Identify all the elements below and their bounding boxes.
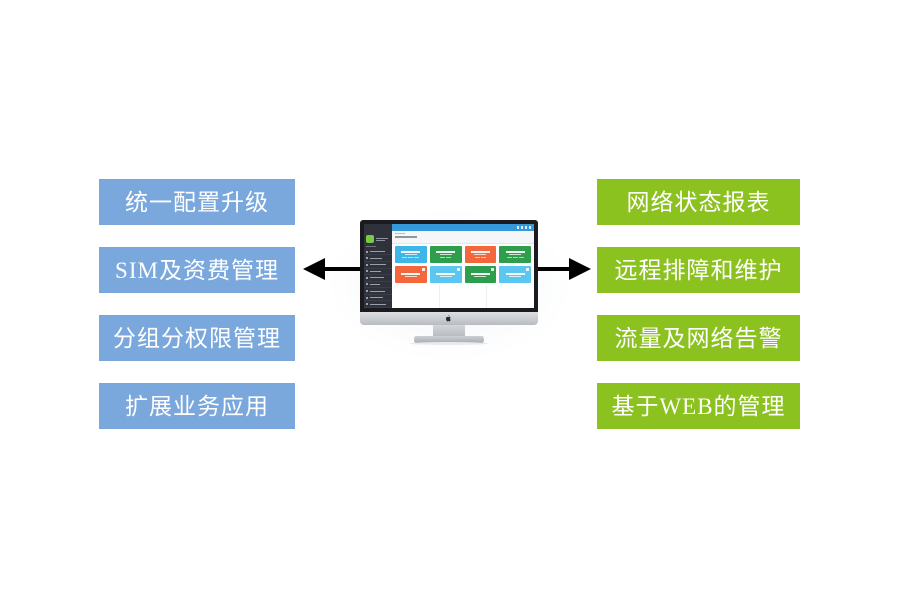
monitor-chin (360, 312, 538, 325)
app-main-content (392, 231, 534, 308)
left-feature-label-2: SIM及资费管理 (115, 259, 279, 282)
breadcrumb (392, 231, 534, 244)
bolt-icon (491, 268, 494, 271)
left-feature-item-4[interactable]: 扩展业务应用 (99, 383, 295, 429)
dashboard-tile-1[interactable] (395, 246, 427, 263)
dashboard-tile-5[interactable] (395, 266, 427, 283)
sidebar-item-8[interactable] (364, 295, 392, 302)
right-feature-label-3: 流量及网络告警 (615, 327, 783, 350)
sidebar-item-3[interactable] (364, 262, 392, 269)
right-feature-item-2[interactable]: 远程排障和维护 (597, 247, 800, 293)
dashboard-tile-3[interactable] (465, 246, 497, 263)
left-feature-label-4: 扩展业务应用 (125, 395, 269, 418)
imac-monitor (360, 220, 538, 348)
sidebar-item-5[interactable] (364, 275, 392, 282)
topbar-icon-4[interactable] (529, 226, 531, 229)
right-feature-label-4: 基于WEB的管理 (611, 395, 785, 418)
app-topbar (364, 224, 534, 231)
left-feature-label-1: 统一配置升级 (125, 191, 269, 214)
monitor-neck (433, 325, 465, 336)
pane-2 (440, 285, 488, 308)
signal-icon (526, 268, 529, 271)
topbar-icon-3[interactable] (525, 226, 527, 229)
left-feature-item-3[interactable]: 分组分权限管理 (99, 315, 295, 361)
sidebar-user-block[interactable] (364, 233, 392, 245)
right-feature-item-1[interactable]: 网络状态报表 (597, 179, 800, 225)
dashboard-tile-6[interactable] (430, 266, 462, 283)
dashboard-tile-2[interactable] (430, 246, 462, 263)
dashboard-tile-7[interactable] (465, 266, 497, 283)
right-feature-label-2: 远程排障和维护 (615, 259, 783, 282)
apple-logo-icon (446, 315, 453, 323)
sidebar-item-9[interactable] (364, 301, 392, 308)
dashboard-tile-8[interactable] (499, 266, 531, 283)
sidebar-user-text (376, 238, 388, 241)
left-feature-label-3: 分组分权限管理 (113, 327, 281, 350)
app-body (364, 231, 534, 308)
topbar-icon-2[interactable] (521, 226, 523, 229)
dashboard-tile-grid (392, 244, 534, 285)
left-feature-item-2[interactable]: SIM及资费管理 (99, 247, 295, 293)
right-feature-item-4[interactable]: 基于WEB的管理 (597, 383, 800, 429)
diagram-canvas: 统一配置升级 SIM及资费管理 分组分权限管理 扩展业务应用 网络状态报表 远程… (0, 0, 900, 600)
left-feature-item-1[interactable]: 统一配置升级 (99, 179, 295, 225)
pane-3 (487, 285, 534, 308)
topbar-icons[interactable] (517, 226, 531, 229)
topbar-icon-1[interactable] (517, 226, 519, 229)
monitor-screen[interactable] (364, 224, 534, 308)
arrow-right-icon (531, 249, 591, 289)
chart-icon (422, 268, 425, 271)
sidebar-item-7[interactable] (364, 288, 392, 295)
sidebar-item-4[interactable] (364, 269, 392, 276)
app-sidebar (364, 231, 392, 308)
dashboard-empty-panes (392, 285, 534, 308)
sidebar-item-1[interactable] (364, 249, 392, 256)
sidebar-item-2[interactable] (364, 255, 392, 262)
arrow-left-icon (303, 249, 363, 289)
left-feature-column: 统一配置升级 SIM及资费管理 分组分权限管理 扩展业务应用 (99, 179, 295, 429)
sidebar-item-6[interactable] (364, 282, 392, 289)
avatar (366, 235, 374, 243)
right-feature-item-3[interactable]: 流量及网络告警 (597, 315, 800, 361)
right-feature-label-1: 网络状态报表 (627, 191, 771, 214)
pane-1 (392, 285, 440, 308)
gear-icon (457, 268, 460, 271)
right-feature-column: 网络状态报表 远程排障和维护 流量及网络告警 基于WEB的管理 (597, 179, 800, 429)
monitor-base-shadow (410, 342, 488, 345)
dashboard-tile-4[interactable] (499, 246, 531, 263)
app-logo (364, 224, 392, 231)
